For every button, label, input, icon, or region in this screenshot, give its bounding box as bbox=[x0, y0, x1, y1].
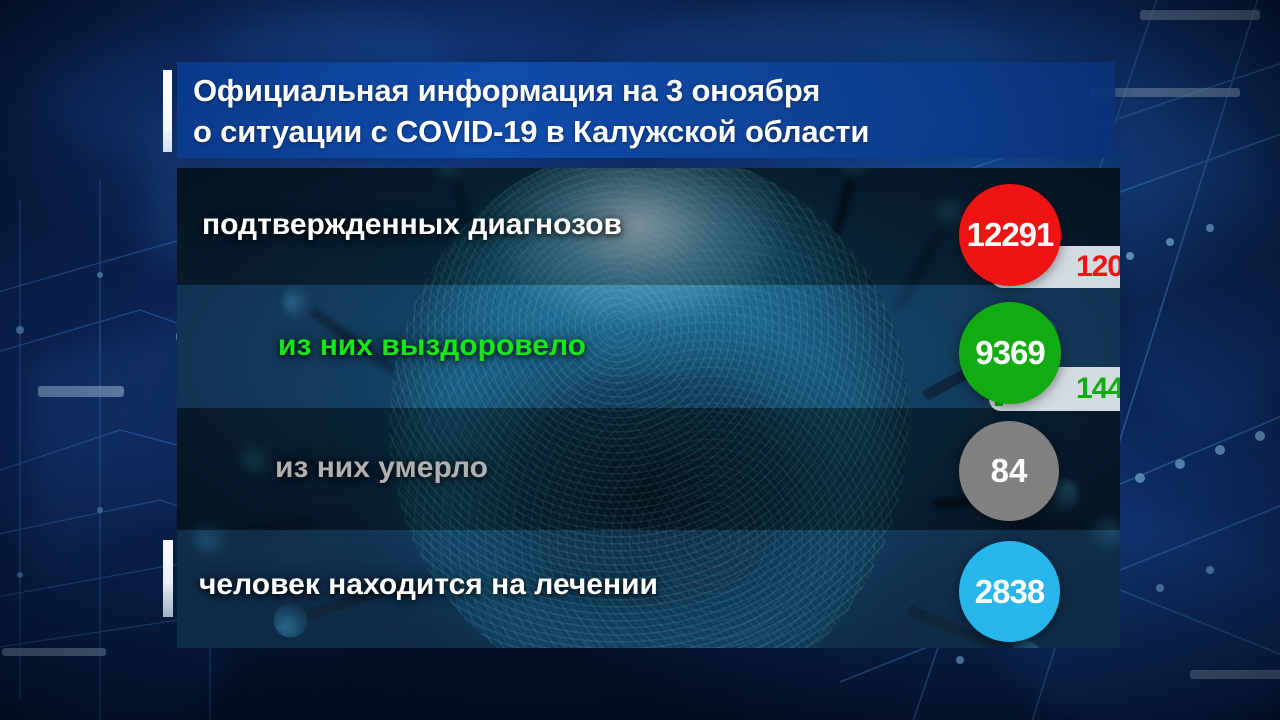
delta-value-recovered: 144 bbox=[1076, 372, 1120, 406]
delta-value-confirmed: 120 bbox=[1076, 250, 1120, 284]
title-line-2: о ситуации с COVID-19 в Калужской област… bbox=[193, 114, 869, 149]
stat-value-treatment: 2838 bbox=[975, 573, 1044, 611]
stat-value-deaths: 84 bbox=[991, 452, 1028, 490]
stat-value-confirmed: 12291 bbox=[967, 216, 1054, 254]
title-line-1: Официальная информация на 3 оноября bbox=[193, 73, 820, 108]
row-label-confirmed: подтвержденных диагнозов bbox=[202, 208, 622, 242]
page-title: Официальная информация на 3 оноября о си… bbox=[193, 70, 1113, 152]
stat-circle-treatment: 2838 bbox=[959, 541, 1060, 642]
stat-circle-confirmed: 12291 bbox=[959, 184, 1061, 286]
bottom-accent-bar bbox=[163, 540, 173, 617]
infographic-slide: Официальная информация на 3 оноября о си… bbox=[0, 0, 1280, 720]
row-label-recovered: из них выздоровело bbox=[278, 329, 586, 363]
row-label-treatment: человек находится на лечении bbox=[199, 568, 658, 602]
title-accent-bar bbox=[163, 70, 172, 152]
stat-circle-recovered: 9369 bbox=[959, 302, 1061, 404]
stat-circle-deaths: 84 bbox=[959, 421, 1059, 521]
stat-value-recovered: 9369 bbox=[975, 334, 1044, 372]
row-label-deaths: из них умерло bbox=[275, 451, 488, 485]
stats-panel: подтвержденных диагнозов из них выздоров… bbox=[177, 168, 1120, 648]
